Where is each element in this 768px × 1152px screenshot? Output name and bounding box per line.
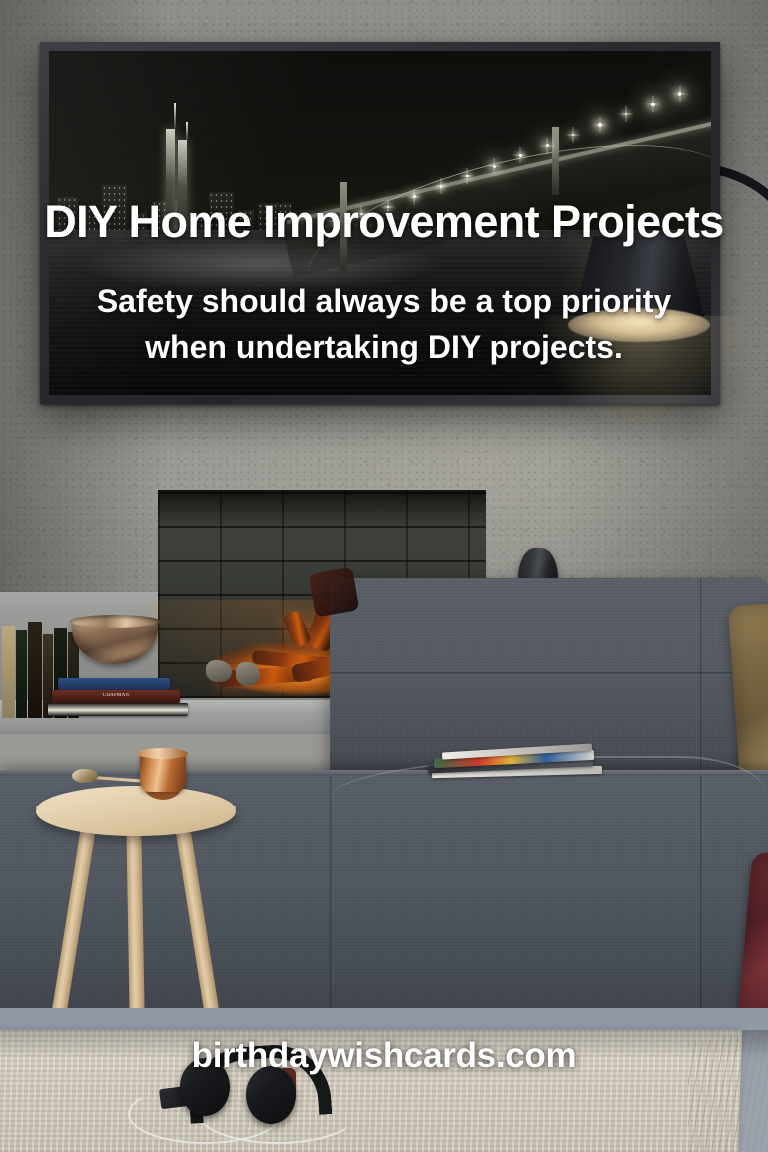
bridge-tower-near xyxy=(340,182,347,271)
headphone-earcup-left xyxy=(180,1058,230,1116)
headphone-earcup-right xyxy=(246,1066,296,1124)
book-cover xyxy=(48,703,188,716)
copper-bowl-rim xyxy=(70,615,160,628)
brass-spoon-bowl xyxy=(72,769,98,783)
rug-contact-shadow xyxy=(0,1030,768,1060)
floor-lamp-bulb-glow xyxy=(568,308,710,342)
copper-cup-rim xyxy=(138,748,188,759)
bridge-tower-far xyxy=(552,127,559,196)
fireplace-inner-shadow xyxy=(158,490,486,530)
sofa-cushion-seam-2 xyxy=(700,776,703,1030)
tv-screen xyxy=(49,51,711,395)
poster-canvas: CHAPMAN DIY Home xyxy=(0,0,768,1152)
book-chapman: CHAPMAN xyxy=(52,690,180,703)
wall-mounted-tv[interactable] xyxy=(40,42,720,404)
sofa-dark-pillow xyxy=(309,567,360,618)
book-blue xyxy=(58,678,170,690)
stool-seat-top[interactable] xyxy=(36,786,236,836)
magazine-stack xyxy=(424,748,614,784)
sofa-cushion-seam-1 xyxy=(330,776,333,1030)
sofa-backrest-seam-vertical xyxy=(700,578,703,786)
